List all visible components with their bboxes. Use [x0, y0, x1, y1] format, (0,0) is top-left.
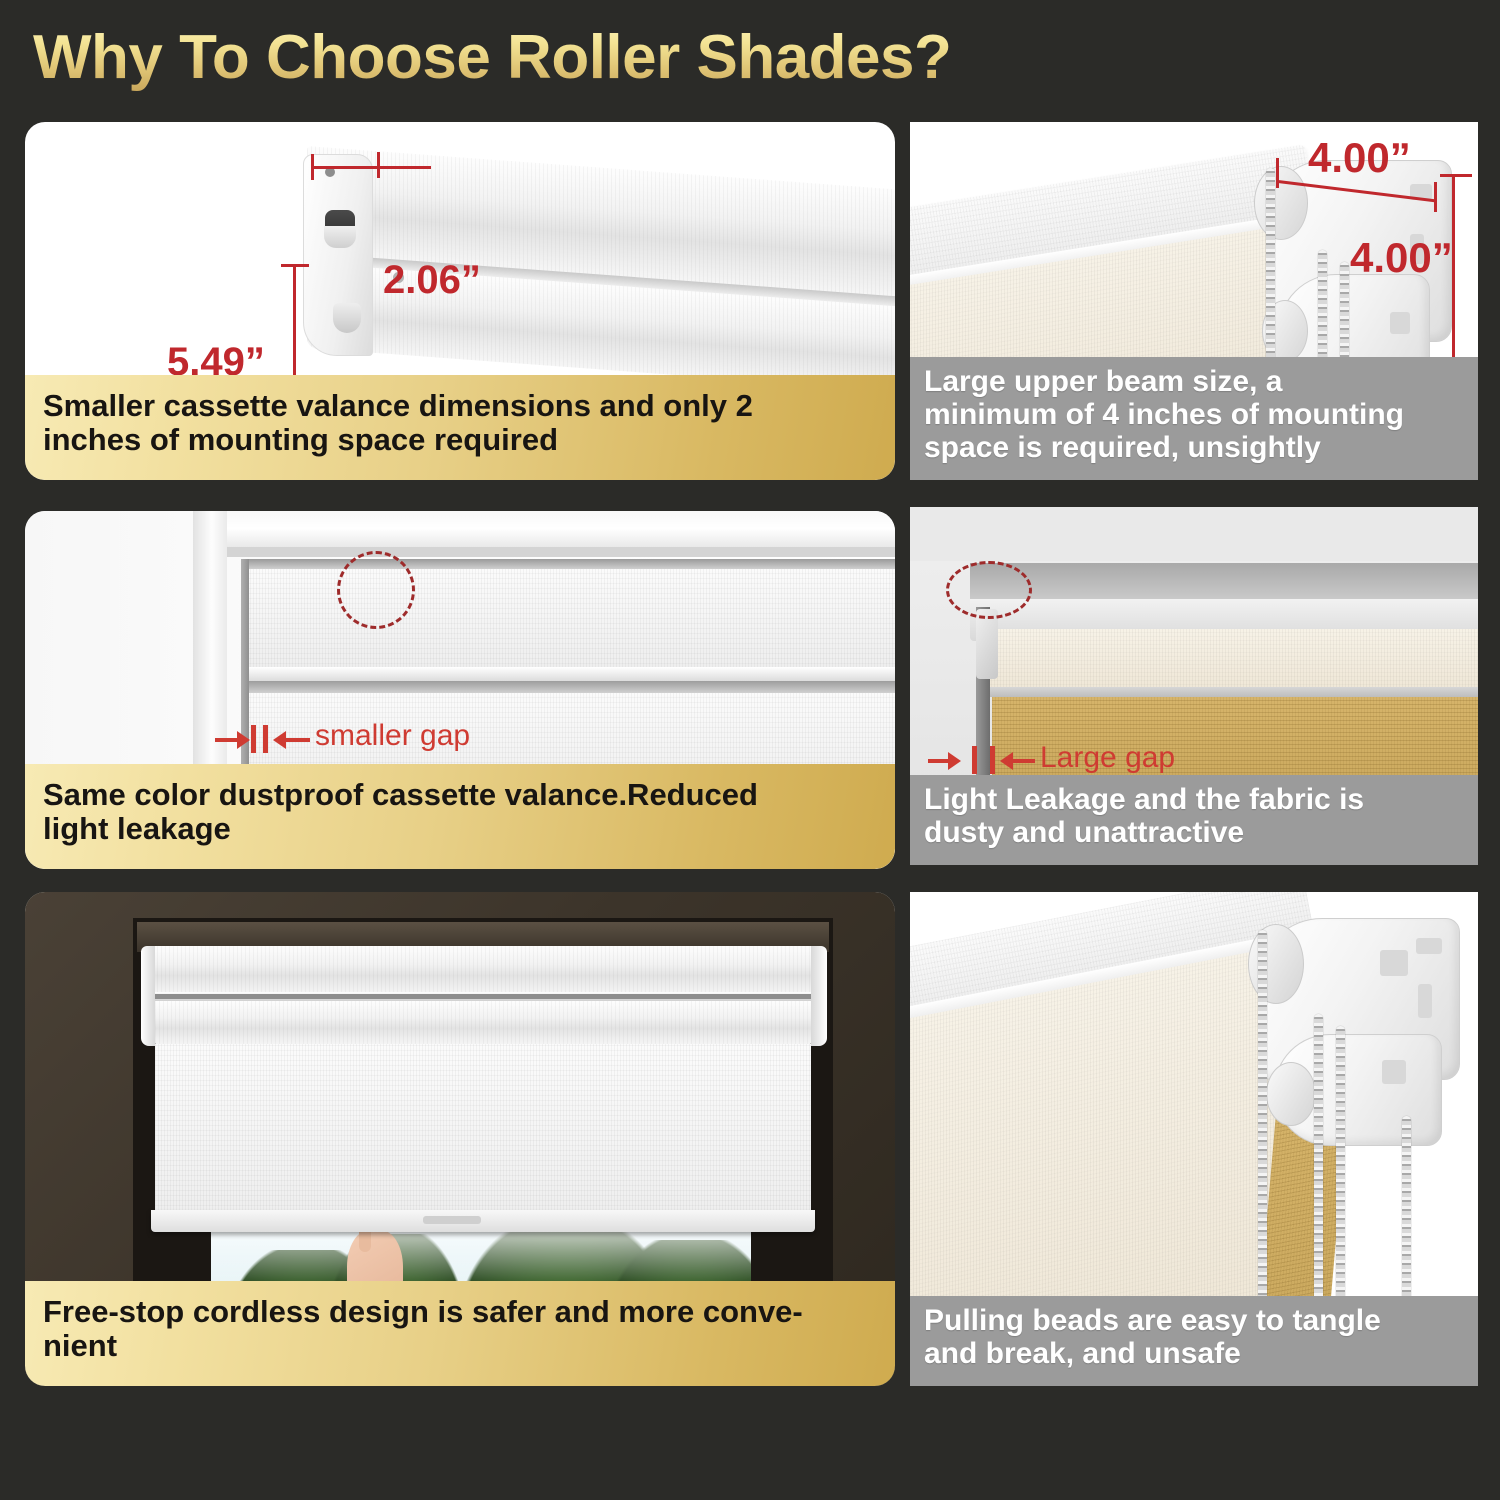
panel-pro-cassette: 2.06” 5.49” Smaller cassette valance dim… — [25, 122, 895, 480]
caption-line: nient — [43, 1329, 877, 1364]
panel-pro-gap: smaller gap Same color dustproof cassett… — [25, 511, 895, 869]
panel-con-beads: Pulling beads are easy to tangle and bre… — [910, 892, 1478, 1386]
caption-line: light leakage — [43, 812, 877, 847]
caption-line: Light Leakage and the fabric is — [924, 783, 1464, 816]
cassette-valance — [145, 946, 821, 994]
caption-line: Large upper beam size, a — [924, 365, 1464, 398]
caption-line: inches of mounting space required — [43, 423, 877, 458]
panel-pro-cordless: Free-stop cordless design is safer and m… — [25, 892, 895, 1386]
caption-line: Smaller cassette valance dimensions and … — [43, 389, 877, 424]
caption-line: Same color dustproof cassette valance.Re… — [43, 778, 877, 813]
gap-label: Large gap — [1040, 741, 1175, 775]
caption-con-gap: Light Leakage and the fabric is dusty an… — [910, 775, 1478, 865]
caption-line: and break, and unsafe — [924, 1337, 1464, 1370]
caption-line: minimum of 4 inches of mounting — [924, 398, 1464, 431]
panel-con-beam: 4.00” 4.00” Large upper beam size, a min… — [910, 122, 1478, 480]
dimension-height-label: 4.00” — [1350, 234, 1453, 282]
caption-pro-cordless: Free-stop cordless design is safer and m… — [25, 1281, 895, 1386]
caption-line: dusty and unattractive — [924, 816, 1464, 849]
highlight-circle — [946, 561, 1032, 619]
infographic-page: Why To Choose Roller Shades? 2.06” 5.49” — [0, 0, 1500, 1500]
caption-line: space is required, unsightly — [924, 431, 1464, 464]
caption-line: Pulling beads are easy to tangle — [924, 1304, 1464, 1337]
page-title: Why To Choose Roller Shades? — [33, 22, 951, 93]
shade-fabric — [155, 1044, 811, 1216]
dimension-width-label: 4.00” — [1308, 134, 1411, 182]
gap-label: smaller gap — [315, 719, 470, 753]
caption-con-beads: Pulling beads are easy to tangle and bre… — [910, 1296, 1478, 1386]
panel-con-gap: Large gap Light Leakage and the fabric i… — [910, 507, 1478, 865]
caption-line: Free-stop cordless design is safer and m… — [43, 1295, 877, 1330]
caption-con-beam: Large upper beam size, a minimum of 4 in… — [910, 357, 1478, 480]
highlight-circle — [337, 551, 415, 629]
dimension-width-label: 2.06” — [383, 258, 481, 303]
caption-pro-cassette: Smaller cassette valance dimensions and … — [25, 375, 895, 480]
caption-pro-gap: Same color dustproof cassette valance.Re… — [25, 764, 895, 869]
